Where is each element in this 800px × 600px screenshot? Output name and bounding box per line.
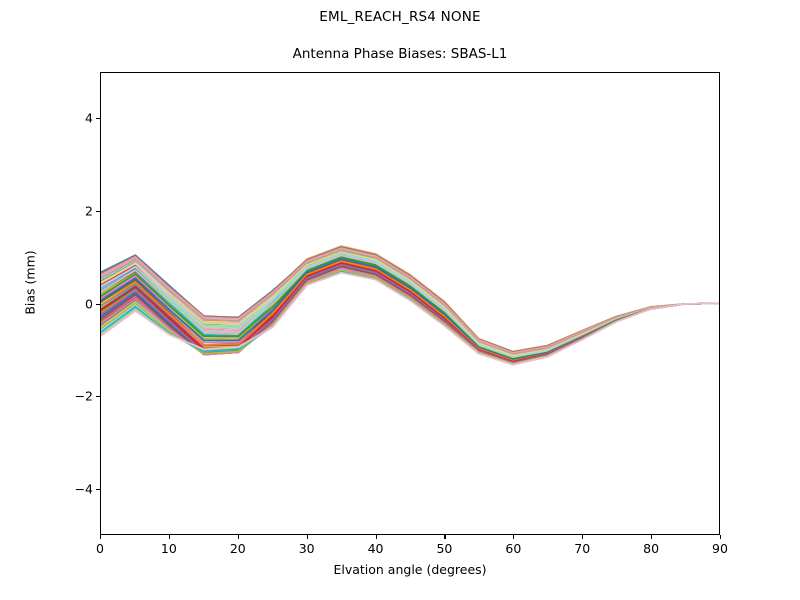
figure-suptitle: EML_REACH_RS4 NONE	[0, 9, 800, 25]
figure: EML_REACH_RS4 NONE Antenna Phase Biases:…	[0, 0, 800, 600]
y-tick-label: −2	[33, 389, 93, 404]
x-tick-marks	[100, 535, 720, 539]
x-tick-mark	[513, 535, 514, 539]
x-tick-mark	[720, 535, 721, 539]
y-tick-mark	[96, 304, 100, 305]
x-tick-mark	[376, 535, 377, 539]
x-tick-label: 40	[346, 541, 406, 556]
y-tick-label: 4	[33, 111, 93, 126]
x-tick-mark	[169, 535, 170, 539]
x-tick-label: 70	[552, 541, 612, 556]
x-tick-mark	[651, 535, 652, 539]
y-tick-mark	[96, 396, 100, 397]
x-tick-label: 20	[208, 541, 268, 556]
x-tick-mark	[238, 535, 239, 539]
x-tick-mark	[100, 535, 101, 539]
x-tick-label: 90	[690, 541, 750, 556]
x-tick-label: 0	[70, 541, 130, 556]
y-tick-mark	[96, 118, 100, 119]
y-tick-label: 0	[33, 296, 93, 311]
x-tick-label: 50	[414, 541, 474, 556]
y-tick-mark	[96, 489, 100, 490]
plot-area	[100, 72, 720, 535]
y-tick-label: −4	[33, 481, 93, 496]
x-tick-label: 80	[621, 541, 681, 556]
x-tick-mark	[307, 535, 308, 539]
x-tick-label: 30	[277, 541, 337, 556]
y-tick-label: 2	[33, 203, 93, 218]
y-tick-marks	[96, 72, 100, 535]
x-tick-mark	[444, 535, 445, 539]
data-lines	[101, 73, 719, 534]
axes-title: Antenna Phase Biases: SBAS-L1	[0, 46, 800, 62]
y-axis-title: Bias (mm)	[23, 193, 38, 373]
x-tick-mark	[582, 535, 583, 539]
x-tick-label: 10	[139, 541, 199, 556]
x-tick-label: 60	[483, 541, 543, 556]
x-tick-labels: 0102030405060708090	[100, 541, 720, 559]
x-axis-title: Elvation angle (degrees)	[100, 562, 720, 577]
y-tick-mark	[96, 211, 100, 212]
